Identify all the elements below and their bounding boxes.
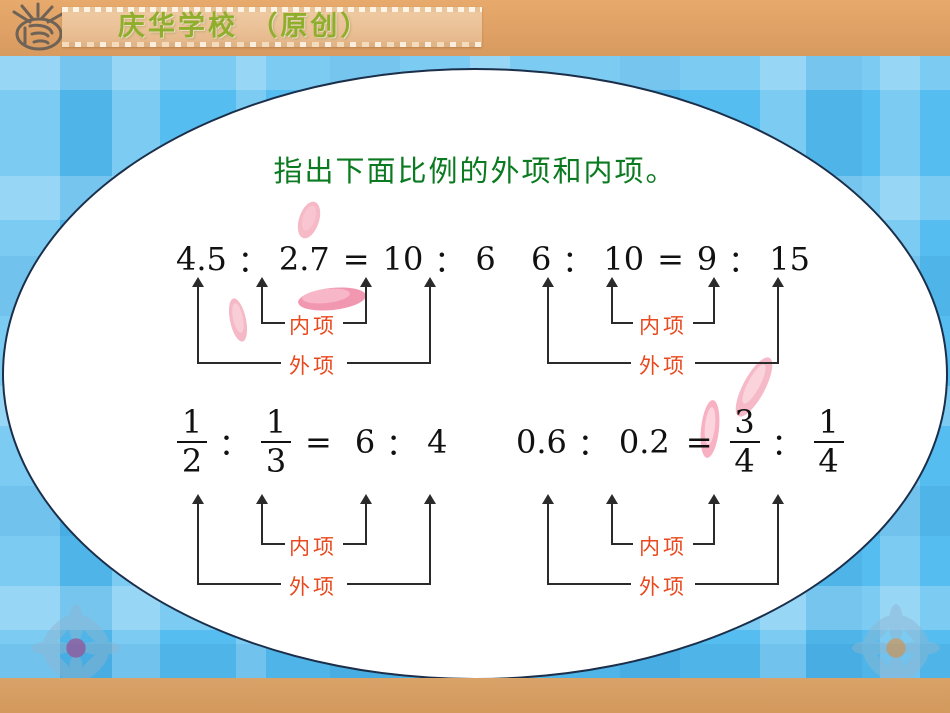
eq4-equals: =: [674, 423, 725, 461]
equation-1: 4.5 ： 2.7 = 10 ： 6: [172, 237, 500, 281]
inner-arrow-left: [261, 286, 263, 324]
eq1-equals: =: [334, 240, 379, 278]
eq4-frac2-numerator: 1: [818, 406, 838, 439]
inner-arrow-right: [365, 503, 367, 545]
eq1-term-3: 10: [379, 240, 428, 278]
eq3-colon-2: ：: [379, 420, 423, 464]
eq4-frac1-denominator: 4: [734, 445, 754, 478]
outer-arrow-right: [777, 286, 779, 364]
inner-line-right: [343, 543, 367, 545]
eq1-term-4: 6: [471, 240, 499, 278]
eq3-frac1-numerator: 1: [182, 406, 202, 439]
eq3-frac2-denominator: 3: [266, 445, 286, 478]
eq4-colon-1: ：: [571, 420, 615, 464]
eq1-term-1: 4.5: [172, 240, 231, 278]
eq4-colon-2: ：: [765, 420, 809, 464]
outer-line-left: [547, 583, 631, 585]
eq2-colon-1: ：: [555, 237, 599, 281]
equation-3: 1 2 ： 1 3 = 6 ： 4: [172, 406, 452, 477]
outer-line-left: [547, 362, 631, 364]
outer-arrow-right: [429, 503, 431, 585]
equation-2: 6 ： 10 = 9 ： 15: [527, 237, 814, 281]
inner-arrow-right: [713, 286, 715, 324]
outer-arrow-left: [547, 286, 549, 364]
eq3-colon-1: ：: [212, 420, 256, 464]
page-title: 指出下面比例的外项和内项。: [0, 148, 950, 190]
inner-arrow-left: [611, 286, 613, 324]
eq2-term-2: 10: [599, 240, 648, 278]
outer-line-right: [347, 362, 431, 364]
eq3-frac2-numerator: 1: [266, 406, 286, 439]
eq1-term-2: 2.7: [275, 240, 334, 278]
eq3-frac1-denominator: 2: [182, 445, 202, 478]
slide-bottom-border: [0, 678, 950, 713]
inner-line-left: [611, 322, 633, 324]
eq4-term-1: 0.6: [512, 423, 571, 461]
outer-line-right: [695, 362, 779, 364]
inner-line-right: [693, 543, 715, 545]
outer-arrow-left: [547, 503, 549, 585]
eq1-colon-1: ：: [231, 237, 275, 281]
outer-arrow-left: [197, 286, 199, 364]
eq3-fraction-1: 1 2: [172, 406, 212, 477]
eq3-term-3: 6: [341, 423, 379, 461]
eq2-term-3: 9: [693, 240, 721, 278]
inner-terms-label: 内项: [281, 531, 345, 561]
inner-terms-label: 内项: [281, 310, 345, 340]
inner-arrow-right: [713, 503, 715, 545]
presentation-slide: 庆华学校 （原创）: [0, 0, 950, 713]
inner-line-right: [693, 322, 715, 324]
inner-arrow-left: [611, 503, 613, 545]
slide-content: 指出下面比例的外项和内项。 4.5 ： 2.7 = 10: [0, 0, 950, 713]
eq4-fraction-1: 3 4: [725, 406, 765, 477]
eq3-equals: =: [296, 423, 341, 461]
inner-terms-label: 内项: [631, 310, 695, 340]
outer-line-right: [695, 583, 779, 585]
eq3-term-4: 4: [423, 423, 451, 461]
inner-line-left: [611, 543, 633, 545]
eq4-fraction-2: 1 4: [809, 406, 849, 477]
eq4-term-2: 0.2: [615, 423, 674, 461]
outer-terms-label: 外项: [281, 350, 345, 380]
outer-terms-label: 外项: [631, 571, 695, 601]
inner-arrow-left: [261, 503, 263, 545]
inner-line-right: [343, 322, 367, 324]
eq2-colon-2: ：: [721, 237, 765, 281]
outer-line-right: [347, 583, 431, 585]
eq1-colon-2: ：: [427, 237, 471, 281]
outer-terms-label: 外项: [631, 350, 695, 380]
equation-4: 0.6 ： 0.2 = 3 4 ： 1 4: [512, 406, 849, 477]
inner-arrow-right: [365, 286, 367, 324]
outer-arrow-left: [197, 503, 199, 585]
outer-terms-label: 外项: [281, 571, 345, 601]
pink-petal-icon: [222, 296, 254, 344]
eq4-frac2-denominator: 4: [818, 445, 838, 478]
eq3-fraction-2: 1 3: [256, 406, 296, 477]
pink-petal-icon: [292, 200, 326, 240]
outer-line-left: [197, 362, 281, 364]
outer-arrow-right: [429, 286, 431, 364]
outer-arrow-right: [777, 503, 779, 585]
eq2-equals: =: [648, 240, 693, 278]
eq2-term-1: 6: [527, 240, 555, 278]
outer-line-left: [197, 583, 281, 585]
inner-terms-label: 内项: [631, 531, 695, 561]
eq4-frac1-numerator: 3: [734, 406, 754, 439]
eq2-term-4: 15: [765, 240, 814, 278]
